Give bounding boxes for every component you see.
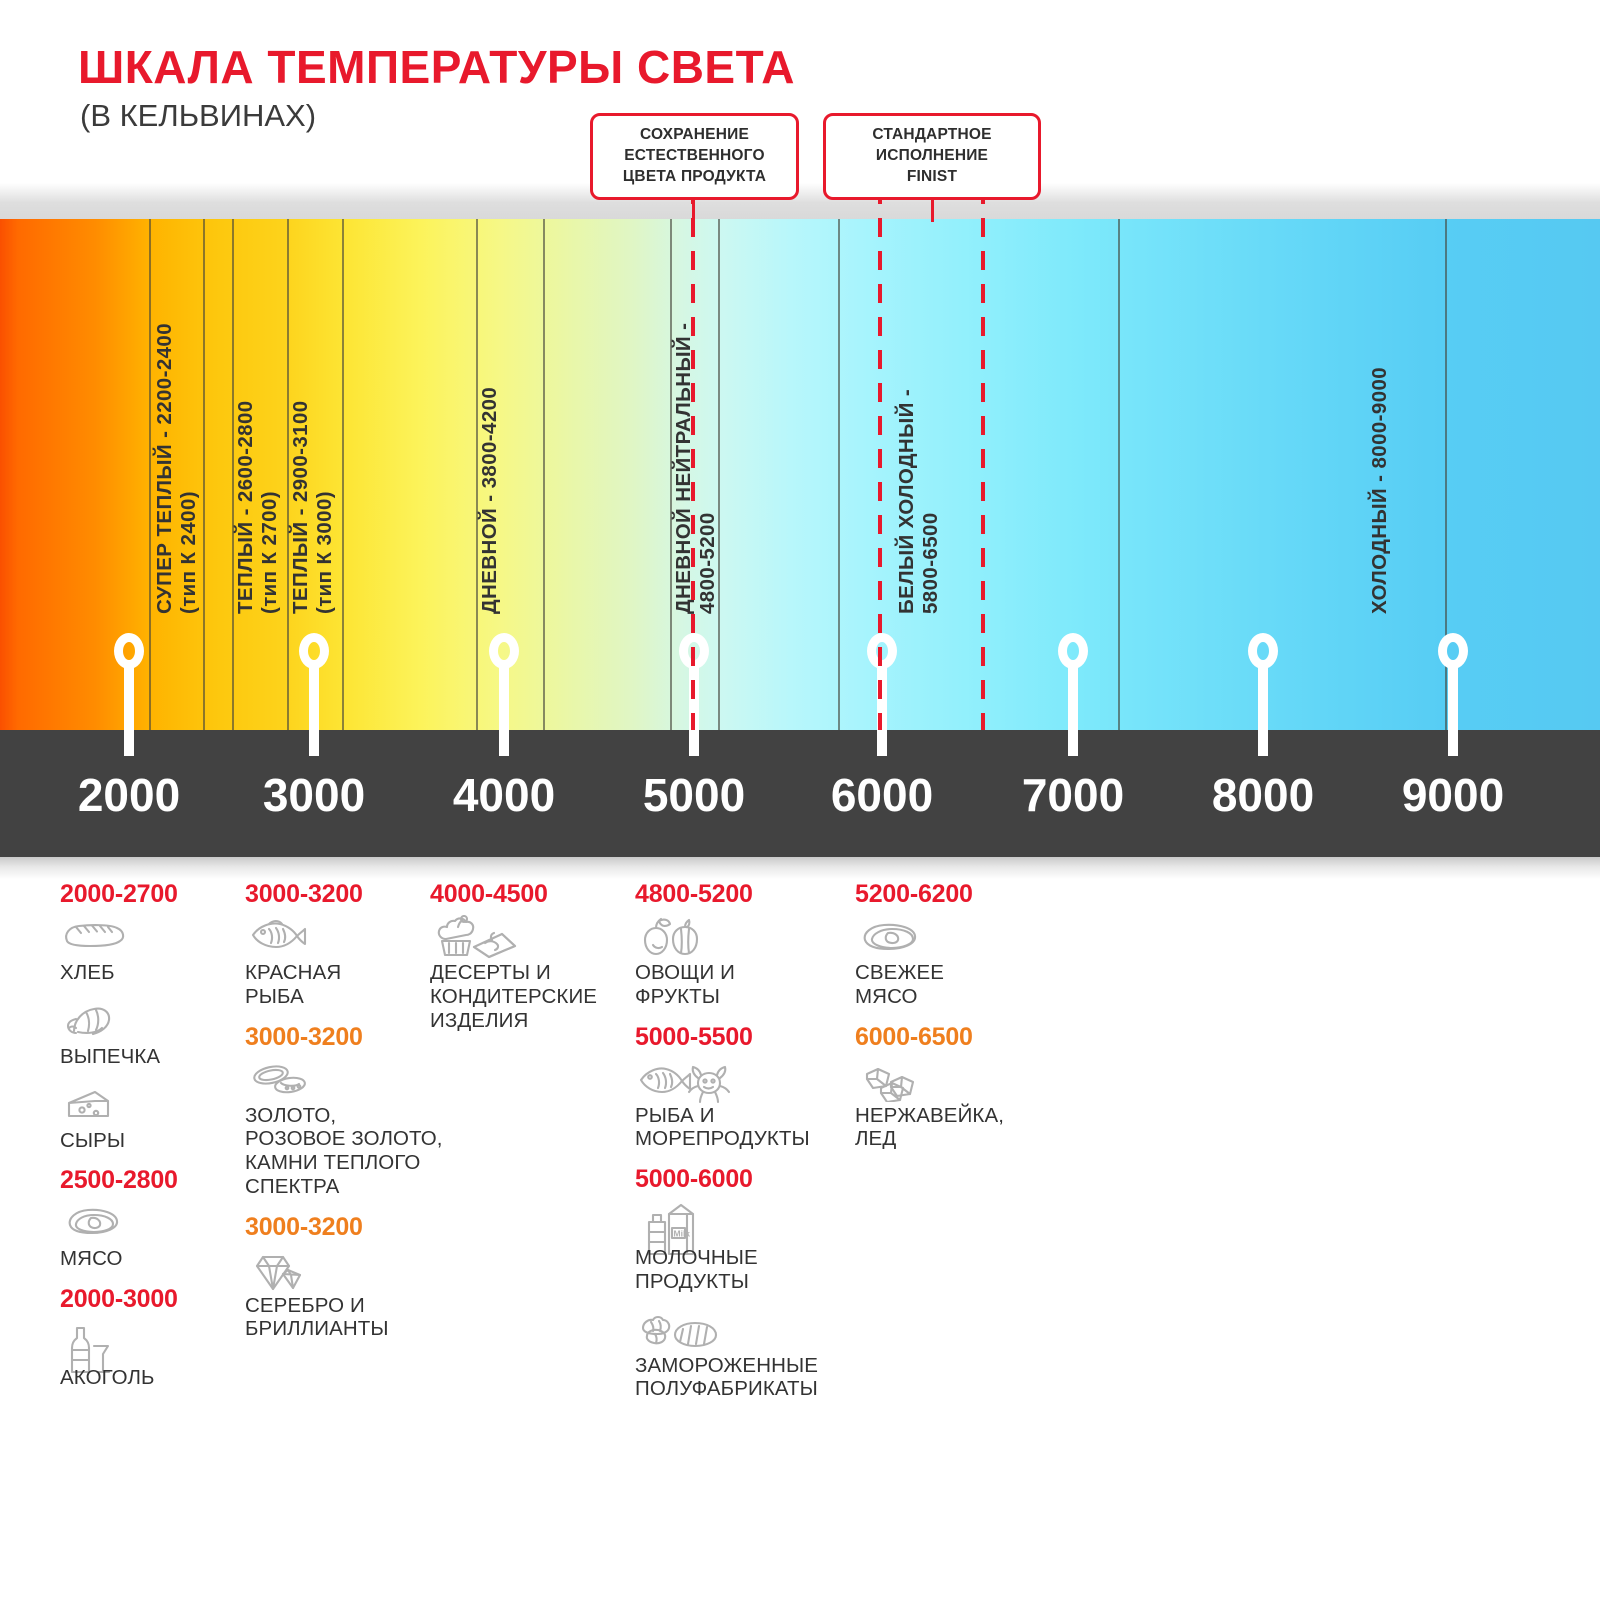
seafood-icon	[635, 1058, 855, 1102]
legend-range-label: 5000-6000	[635, 1165, 855, 1194]
legend-column-0: 2000-2700ХЛЕБВЫПЕЧКАСЫРЫ2500-2800МЯСО200…	[60, 880, 235, 1404]
frozen-food-icon	[635, 1308, 855, 1352]
callout-line: СОХРАНЕНИЕ	[605, 125, 784, 146]
legend-item-label: АКОГОЛЬ	[60, 1366, 235, 1390]
legend-group: 4800-5200ОВОЩИ И ФРУКТЫ	[635, 880, 855, 1009]
legend-group: 5000-6000MilkМОЛОЧНЫЕ ПРОДУКТЫЗАМОРОЖЕНН…	[635, 1165, 855, 1401]
callout-line: СТАНДАРТНОЕ	[838, 125, 1026, 146]
milk-icon: Milk	[635, 1200, 855, 1244]
legend-column-4: 5200-6200СВЕЖЕЕ МЯСО6000-6500НЕРЖАВЕЙКА,…	[855, 880, 1045, 1165]
band-label-line1: ДНЕВНОЙ - 3800-4200	[478, 387, 501, 614]
legend-item: ЗОЛОТО, РОЗОВОЕ ЗОЛОТО, КАМНИ ТЕПЛОГО СП…	[245, 1058, 495, 1199]
scale-marker-stem	[1258, 662, 1268, 756]
band-label-line1: СУПЕР ТЕПЛЫЙ - 2200-2400	[153, 323, 177, 614]
callout-line: ЦВЕТА ПРОДУКТА	[605, 167, 784, 188]
infographic-root: ШКАЛА ТЕМПЕРАТУРЫ СВЕТА (В КЕЛЬВИНАХ) СО…	[0, 0, 1600, 1600]
croissant-icon	[60, 999, 235, 1043]
band-label-line2: (тип К 3000)	[313, 400, 337, 614]
legend-item-label: СЕРЕБРО И БРИЛЛИАНТЫ	[245, 1294, 495, 1342]
legend-item: ЗАМОРОЖЕННЫЕ ПОЛУФАБРИКАТЫ	[635, 1308, 855, 1402]
legend-item: МЯСО	[60, 1201, 235, 1271]
band-label-line2: 4800-5200	[696, 323, 720, 614]
vegetables-icon	[635, 915, 855, 959]
callout-box-1: СТАНДАРТНОЕИСПОЛНЕНИЕFINIST	[823, 113, 1041, 200]
band-label-line2: (тип К 2400)	[177, 323, 201, 614]
callout-line: ЕСТЕСТВЕННОГО	[605, 146, 784, 167]
dessert-icon	[430, 915, 630, 959]
legend-item: ДЕСЕРТЫ И КОНДИТЕРСКИЕ ИЗДЕЛИЯ	[430, 915, 630, 1032]
scale-marker-stem	[1448, 662, 1458, 756]
bread-icon	[60, 915, 235, 959]
legend-item-label: ВЫПЕЧКА	[60, 1045, 235, 1069]
legend-range-label: 4000-4500	[430, 880, 630, 909]
legend-item-label: НЕРЖАВЕЙКА, ЛЕД	[855, 1104, 1045, 1152]
legend-item-label: ОВОЩИ И ФРУКТЫ	[635, 961, 855, 1009]
steak-icon	[60, 1201, 235, 1245]
legend-item-label: СЫРЫ	[60, 1129, 235, 1153]
scale-bar-shadow	[0, 857, 1600, 879]
fresh-meat-icon	[855, 915, 1045, 959]
legend-column-2: 4000-4500ДЕСЕРТЫ И КОНДИТЕРСКИЕ ИЗДЕЛИЯ	[430, 880, 630, 1046]
legend-item-label: МОЛОЧНЫЕ ПРОДУКТЫ	[635, 1246, 855, 1294]
scale-tick-3000: 3000	[263, 768, 365, 822]
legend-range-label: 5200-6200	[855, 880, 1045, 909]
callout-line: FINIST	[838, 167, 1026, 188]
legend-item-label: МЯСО	[60, 1247, 235, 1271]
legend-column-3: 4800-5200ОВОЩИ И ФРУКТЫ5000-5500РЫБА И М…	[635, 880, 855, 1415]
callout-box-0: СОХРАНЕНИЕЕСТЕСТВЕННОГОЦВЕТА ПРОДУКТА	[590, 113, 799, 200]
legend-item-label: СВЕЖЕЕ МЯСО	[855, 961, 1045, 1009]
legend-item: СЕРЕБРО И БРИЛЛИАНТЫ	[245, 1248, 495, 1342]
legend-item-label: ЗОЛОТО, РОЗОВОЕ ЗОЛОТО, КАМНИ ТЕПЛОГО СП…	[245, 1104, 495, 1199]
legend-group: 5200-6200СВЕЖЕЕ МЯСО	[855, 880, 1045, 1009]
legend-group: 3000-3200ЗОЛОТО, РОЗОВОЕ ЗОЛОТО, КАМНИ Т…	[245, 1023, 495, 1199]
legend-range-label: 2500-2800	[60, 1166, 235, 1195]
legend-item: СВЕЖЕЕ МЯСО	[855, 915, 1045, 1009]
legend-item: РЫБА И МОРЕПРОДУКТЫ	[635, 1058, 855, 1152]
scale-tick-5000: 5000	[643, 768, 745, 822]
legend-item: НЕРЖАВЕЙКА, ЛЕД	[855, 1058, 1045, 1152]
legend-item-label: РЫБА И МОРЕПРОДУКТЫ	[635, 1104, 855, 1152]
band-label-line1: ХОЛОДНЫЙ - 8000-9000	[1368, 367, 1391, 614]
legend-item: ОВОЩИ И ФРУКТЫ	[635, 915, 855, 1009]
legend-item: АКОГОЛЬ	[60, 1320, 235, 1390]
legend-range-label: 6000-6500	[855, 1023, 1045, 1052]
legend-range-label: 4800-5200	[635, 880, 855, 909]
band-label-line2: 5800-6500	[919, 389, 943, 614]
legend-range-label: 2000-3000	[60, 1285, 235, 1314]
legend-item-label: ДЕСЕРТЫ И КОНДИТЕРСКИЕ ИЗДЕЛИЯ	[430, 961, 630, 1032]
cheese-icon	[60, 1083, 235, 1127]
legend-range-label: 2000-2700	[60, 880, 235, 909]
legend-item-label: ХЛЕБ	[60, 961, 235, 985]
gold-rings-icon	[245, 1058, 495, 1102]
legend-group: 2500-2800МЯСО	[60, 1166, 235, 1271]
callout-line: ИСПОЛНЕНИЕ	[838, 146, 1026, 167]
scale-marker-stem	[124, 662, 134, 756]
legend-item: СЫРЫ	[60, 1083, 235, 1153]
alcohol-icon	[60, 1320, 235, 1364]
scale-marker-stem	[499, 662, 509, 756]
diamond-icon	[245, 1248, 495, 1292]
legend-group: 4000-4500ДЕСЕРТЫ И КОНДИТЕРСКИЕ ИЗДЕЛИЯ	[430, 880, 630, 1032]
legend-group: 2000-3000АКОГОЛЬ	[60, 1285, 235, 1390]
scale-tick-9000: 9000	[1402, 768, 1504, 822]
legend-group: 6000-6500НЕРЖАВЕЙКА, ЛЕД	[855, 1023, 1045, 1152]
scale-tick-4000: 4000	[453, 768, 555, 822]
svg-text:Milk: Milk	[674, 1229, 691, 1239]
legend-group: 2000-2700ХЛЕБВЫПЕЧКАСЫРЫ	[60, 880, 235, 1152]
scale-tick-6000: 6000	[831, 768, 933, 822]
legend-item: ВЫПЕЧКА	[60, 999, 235, 1069]
band-label-line1: ТЕПЛЫЙ - 2900-3100	[289, 400, 313, 614]
legend-item: ХЛЕБ	[60, 915, 235, 985]
band-label-line1: БЕЛЫЙ ХОЛОДНЫЙ -	[895, 389, 919, 614]
legend-range-label: 3000-3200	[245, 1213, 495, 1242]
red-dashed-line	[878, 119, 882, 730]
legend-item-label: ЗАМОРОЖЕННЫЕ ПОЛУФАБРИКАТЫ	[635, 1354, 855, 1402]
scale-bar: 20003000400050006000700080009000	[0, 730, 1600, 857]
red-dashed-line	[981, 119, 985, 730]
scale-tick-2000: 2000	[78, 768, 180, 822]
legend-group: 3000-3200СЕРЕБРО И БРИЛЛИАНТЫ	[245, 1213, 495, 1342]
band-label-line1: ТЕПЛЫЙ - 2600-2800	[234, 400, 258, 614]
scale-marker-stem	[1068, 662, 1078, 756]
legend-group: 5000-5500РЫБА И МОРЕПРОДУКТЫ	[635, 1023, 855, 1152]
scale-tick-7000: 7000	[1022, 768, 1124, 822]
band-label-line2: (тип К 2700)	[258, 400, 282, 614]
legend-range-label: 5000-5500	[635, 1023, 855, 1052]
ice-cubes-icon	[855, 1058, 1045, 1102]
legend-item: MilkМОЛОЧНЫЕ ПРОДУКТЫ	[635, 1200, 855, 1294]
scale-marker-stem	[309, 662, 319, 756]
scale-tick-8000: 8000	[1212, 768, 1314, 822]
